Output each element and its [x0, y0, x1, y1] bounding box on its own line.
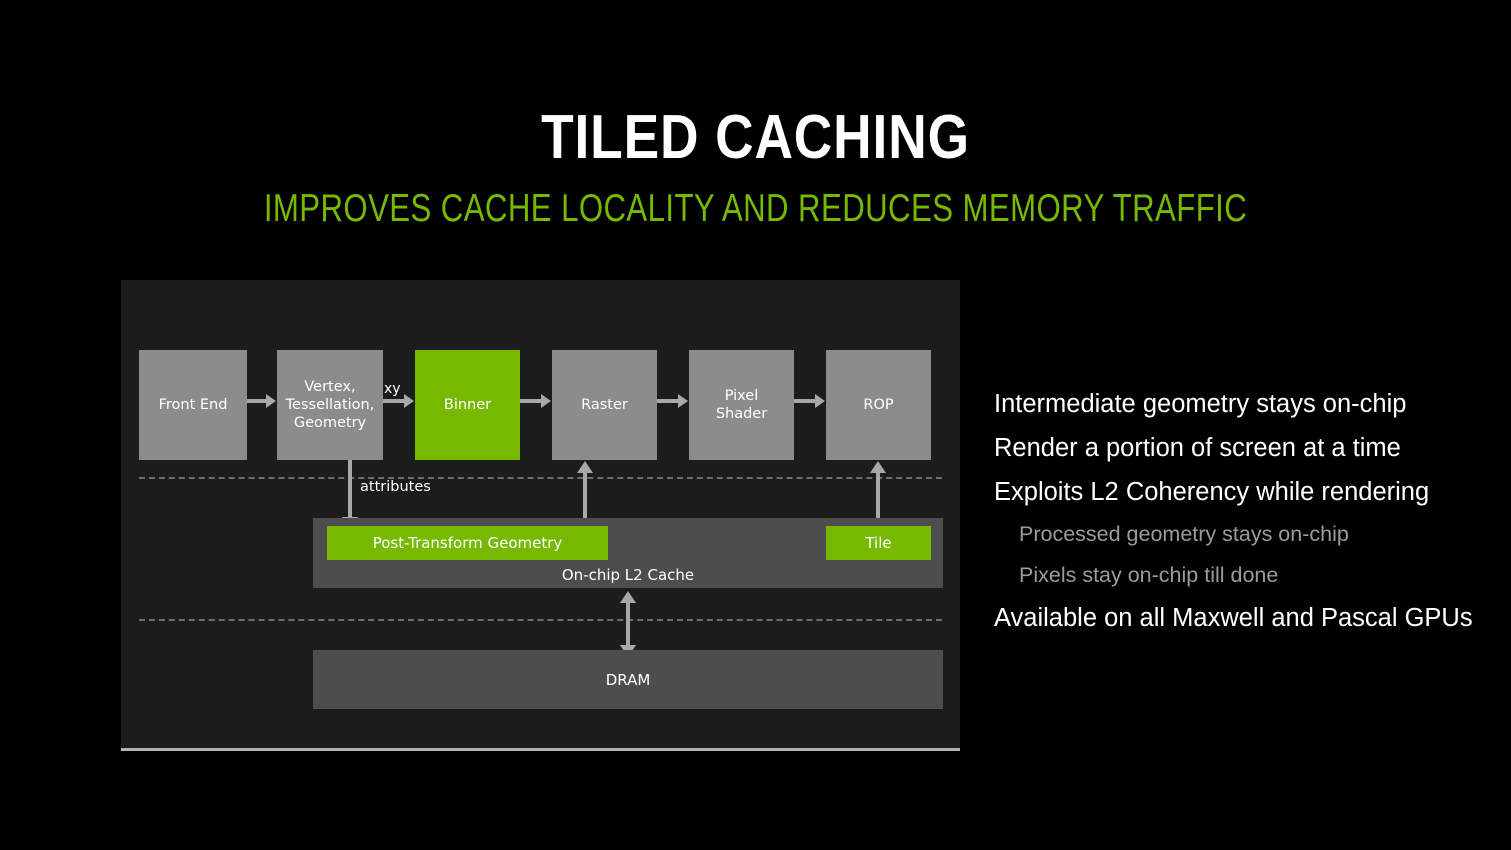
flow-arrow-right-icon [520, 399, 542, 403]
on-chip-l2-cache-label: On-chip L2 Cache [313, 566, 943, 584]
edge-label-xy: xy [384, 381, 401, 397]
on-chip-boundary-divider-top [139, 477, 942, 479]
dram-block[interactable]: DRAM [313, 650, 943, 709]
cache-item-post-transform-geometry[interactable]: Post-Transform Geometry [327, 526, 608, 560]
pipeline-stage-rop[interactable]: ROP [826, 350, 931, 460]
pipeline-stage-front-end[interactable]: Front End [139, 350, 247, 460]
pipeline-stage-pixel-shader[interactable]: Pixel Shader [689, 350, 794, 460]
pipeline-stage-raster[interactable]: Raster [552, 350, 657, 460]
pipeline-stage-vertex-tessellation-geometry[interactable]: Vertex, Tessellation, Geometry [277, 350, 383, 460]
page-subtitle: IMPROVES CACHE LOCALITY AND REDUCES MEMO… [151, 186, 1360, 232]
flow-arrow-bidirectional-l2-dram-icon [626, 602, 630, 646]
panel-baseline-divider [121, 748, 960, 751]
flow-arrow-right-icon [383, 399, 405, 403]
list-item: Processed geometry stays on-chip [994, 514, 1494, 555]
key-points-list: Intermediate geometry stays on-chip Rend… [994, 382, 1494, 640]
list-item: Pixels stay on-chip till done [994, 555, 1494, 596]
list-item: Render a portion of screen at a time [994, 426, 1494, 470]
list-item: Exploits L2 Coherency while rendering [994, 470, 1494, 514]
list-item: Available on all Maxwell and Pascal GPUs [994, 596, 1494, 640]
flow-arrow-right-icon [794, 399, 816, 403]
edge-label-attributes: attributes [360, 479, 431, 495]
cache-item-tile[interactable]: Tile [826, 526, 931, 560]
page-title: TILED CACHING [106, 102, 1405, 174]
pipeline-stage-binner[interactable]: Binner [415, 350, 520, 460]
flow-arrow-down-attributes-icon [348, 460, 352, 518]
flow-arrow-right-icon [247, 399, 267, 403]
flow-arrow-right-icon [657, 399, 679, 403]
list-item: Intermediate geometry stays on-chip [994, 382, 1494, 426]
on-chip-boundary-divider-bottom [139, 619, 942, 621]
